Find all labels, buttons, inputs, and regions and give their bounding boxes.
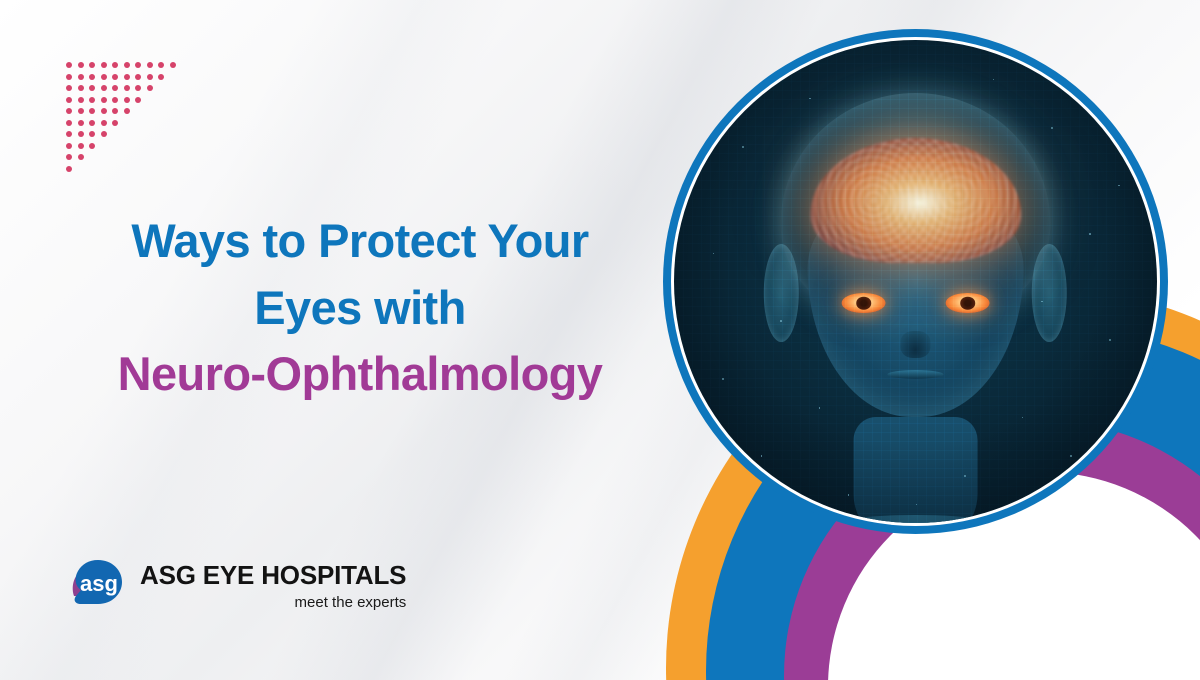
dot [66, 74, 72, 80]
particle [713, 253, 715, 255]
dot [78, 154, 84, 160]
dot [158, 62, 164, 68]
brand-logo-text: ASG EYE HOSPITALS meet the experts [140, 556, 406, 610]
dot [78, 85, 84, 91]
nose [900, 331, 930, 358]
dot [147, 74, 153, 80]
dot [66, 166, 72, 172]
dot [101, 120, 107, 126]
dot [112, 108, 118, 114]
dot [89, 131, 95, 137]
particle [742, 146, 744, 148]
dot [89, 120, 95, 126]
dot [78, 131, 84, 137]
head-illustration [780, 93, 1050, 470]
dot [66, 97, 72, 103]
dot [89, 85, 95, 91]
pupil-left [856, 297, 871, 310]
dot [89, 143, 95, 149]
dot [78, 74, 84, 80]
dot [101, 97, 107, 103]
dot [124, 97, 130, 103]
dot [101, 131, 107, 137]
dot [101, 85, 107, 91]
dot [124, 62, 130, 68]
dot [78, 120, 84, 126]
dot [66, 131, 72, 137]
particle [993, 79, 995, 81]
hero-image-circle [663, 29, 1168, 534]
dot [112, 85, 118, 91]
svg-text:asg: asg [80, 571, 118, 596]
dot [101, 108, 107, 114]
dot [124, 108, 130, 114]
dot [147, 85, 153, 91]
headline-line-1: Ways to Protect Your [60, 208, 660, 275]
dot [66, 108, 72, 114]
particle [761, 455, 763, 457]
dot [112, 120, 118, 126]
dot [135, 74, 141, 80]
dot [124, 85, 130, 91]
dot [112, 97, 118, 103]
dot [89, 74, 95, 80]
neck [853, 417, 977, 523]
particle [722, 378, 724, 380]
dot [124, 74, 130, 80]
particle [964, 475, 966, 477]
dot [78, 97, 84, 103]
dot [135, 85, 141, 91]
promo-banner: Ways to Protect Your Eyes with Neuro-Oph… [0, 0, 1200, 680]
particle [1051, 127, 1053, 129]
pupil-right [960, 297, 975, 310]
dot [112, 74, 118, 80]
particle [1070, 455, 1072, 457]
dot [101, 74, 107, 80]
particle [780, 320, 782, 322]
dot [78, 143, 84, 149]
particle [848, 494, 850, 496]
dot [147, 62, 153, 68]
asg-logo-mark-icon: asg [68, 556, 132, 618]
headline-block: Ways to Protect Your Eyes with Neuro-Oph… [60, 208, 660, 408]
particle [1109, 339, 1111, 341]
particle [1118, 185, 1120, 187]
dot [158, 74, 164, 80]
dot [112, 62, 118, 68]
eye-right [946, 293, 989, 313]
dot [101, 62, 107, 68]
dot [89, 97, 95, 103]
dot [89, 108, 95, 114]
brand-tagline: meet the experts [140, 595, 406, 610]
dot [66, 62, 72, 68]
hero-image-photo [674, 40, 1157, 523]
mouth [887, 370, 943, 379]
dot [170, 62, 176, 68]
brand-logo: asg ASG EYE HOSPITALS meet the experts [68, 556, 406, 618]
dot-pattern-decoration [66, 62, 186, 182]
hero-image-ring-gap [671, 37, 1160, 526]
dot [66, 143, 72, 149]
dot [135, 97, 141, 103]
dot [66, 85, 72, 91]
dot [78, 108, 84, 114]
brand-name: ASG EYE HOSPITALS [140, 562, 406, 588]
dot [89, 62, 95, 68]
dot [78, 62, 84, 68]
particle [1089, 233, 1091, 235]
dot [66, 154, 72, 160]
dot [66, 120, 72, 126]
dot [135, 62, 141, 68]
headline-line-2: Eyes with [60, 275, 660, 342]
headline-line-3: Neuro-Ophthalmology [60, 341, 660, 408]
eye-left [842, 293, 885, 313]
